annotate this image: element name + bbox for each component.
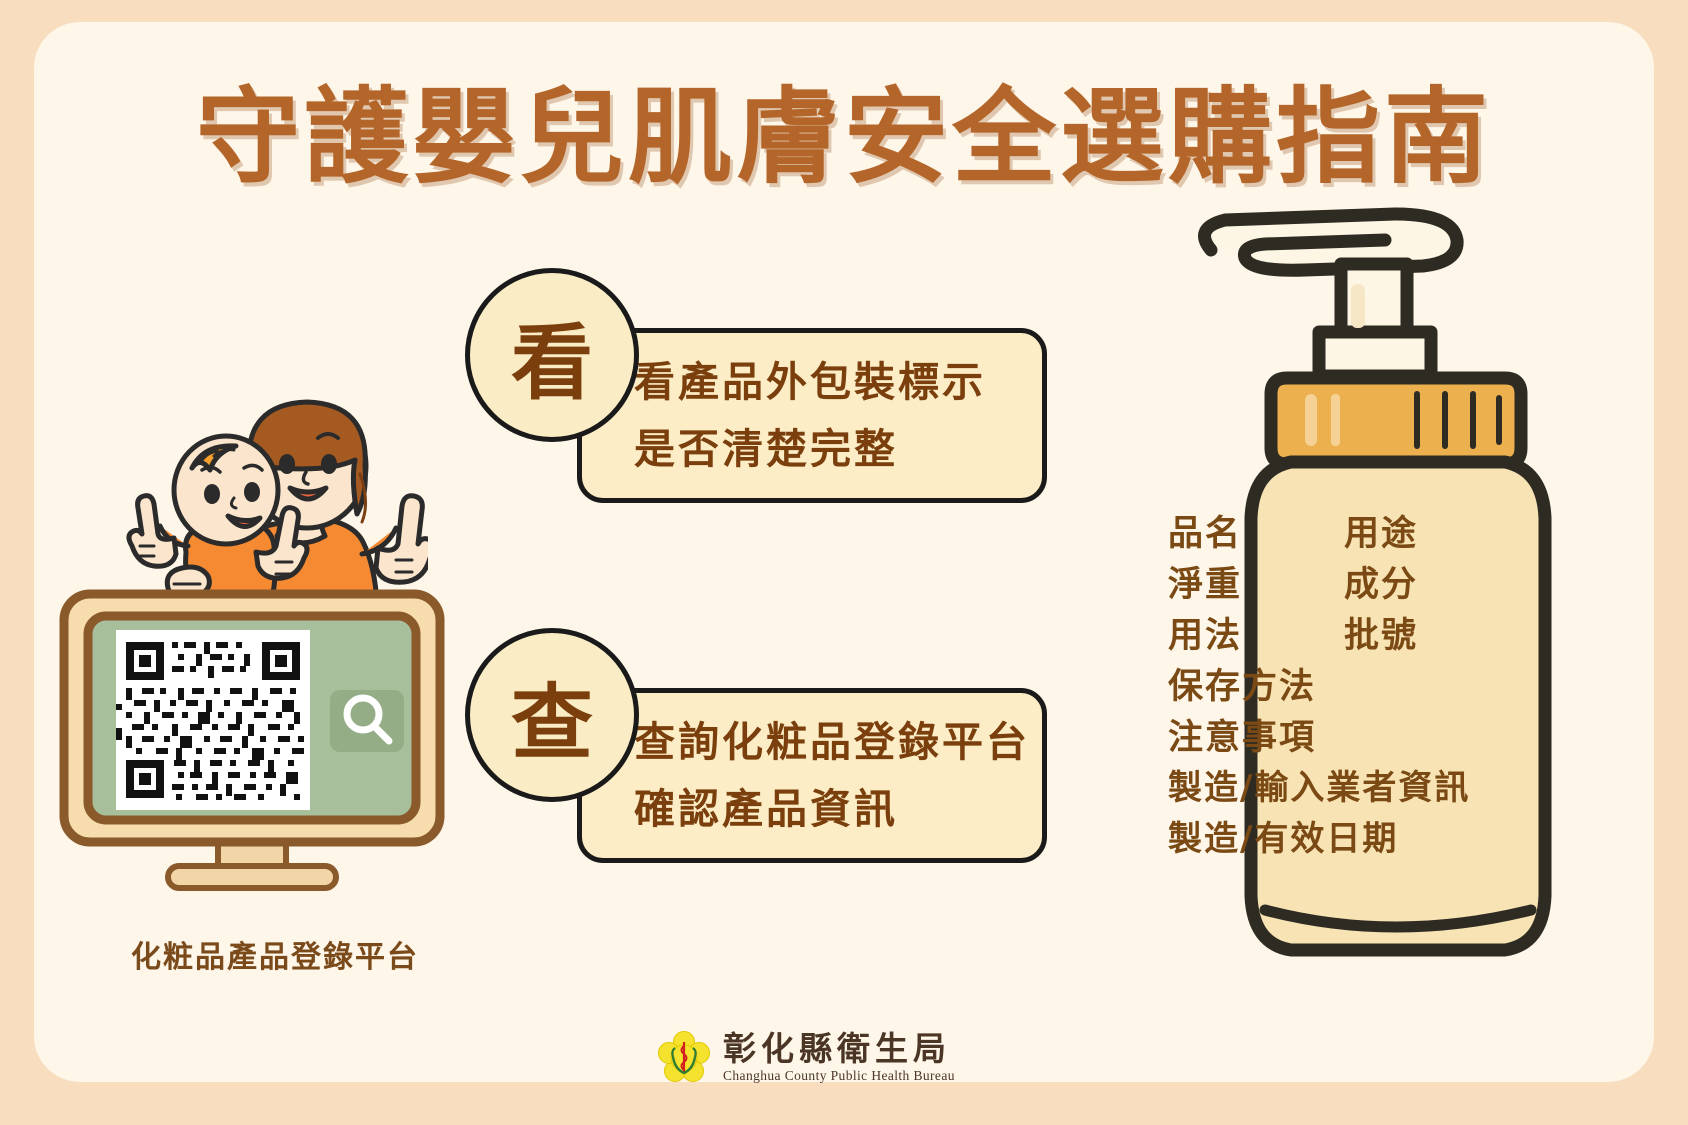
step-2-line-2: 確認產品資訊: [634, 776, 1042, 842]
label-row: 製造/有效日期: [1160, 811, 1500, 862]
org-name-en: Changhua County Public Health Bureau: [723, 1068, 955, 1084]
label-row: 品名 用途: [1160, 505, 1500, 556]
label-left: 製造/有效日期: [1168, 811, 1398, 860]
step-2-line-1: 查詢化粧品登錄平台: [634, 709, 1042, 775]
label-left: 保存方法: [1168, 658, 1316, 709]
label-left: 注意事項: [1168, 709, 1316, 760]
step-2-message: 查詢化粧品登錄平台 確認產品資訊: [577, 688, 1047, 863]
label-row: 注意事項: [1160, 709, 1500, 760]
plum-blossom-caduceus-icon: [655, 1029, 713, 1087]
step-1-line-2: 是否清楚完整: [634, 416, 1042, 482]
step-1-line-1: 看產品外包裝標示: [634, 349, 1042, 415]
page-title: 守護嬰兒肌膚安全選購指南: [0, 52, 1688, 203]
monitor-caption: 化粧品產品登錄平台: [95, 932, 455, 976]
label-right: 批號: [1344, 607, 1418, 658]
org-name-cn: 彰化縣衛生局: [723, 1032, 955, 1067]
step-1-badge: 看: [465, 268, 639, 442]
label-left: 用法: [1168, 607, 1242, 658]
label-row: 用法 批號: [1160, 607, 1500, 658]
monitor-qr[interactable]: [58, 588, 448, 898]
label-left: 品名: [1168, 505, 1242, 556]
label-right: 用途: [1344, 505, 1418, 556]
label-left: 淨重: [1168, 556, 1242, 607]
qr-code: [116, 630, 310, 810]
step-1-message: 看產品外包裝標示 是否清楚完整: [577, 328, 1047, 503]
label-right: 成分: [1344, 556, 1418, 607]
step-2-badge: 查: [465, 628, 639, 802]
label-row: 淨重 成分: [1160, 556, 1500, 607]
footer-logo: 彰化縣衛生局 Changhua County Public Health Bur…: [655, 1022, 955, 1094]
poster-root: 守護嬰兒肌膚安全選購指南: [0, 0, 1688, 1125]
label-row: 保存方法: [1160, 658, 1500, 709]
label-left: 製造/輸入業者資訊: [1168, 760, 1470, 809]
label-row: 製造/輸入業者資訊: [1160, 760, 1500, 811]
bottle-label-list: 品名 用途 淨重 成分 用法 批號 保存方法 注意事項 製造/輸入業者資訊 製造…: [1160, 505, 1500, 862]
